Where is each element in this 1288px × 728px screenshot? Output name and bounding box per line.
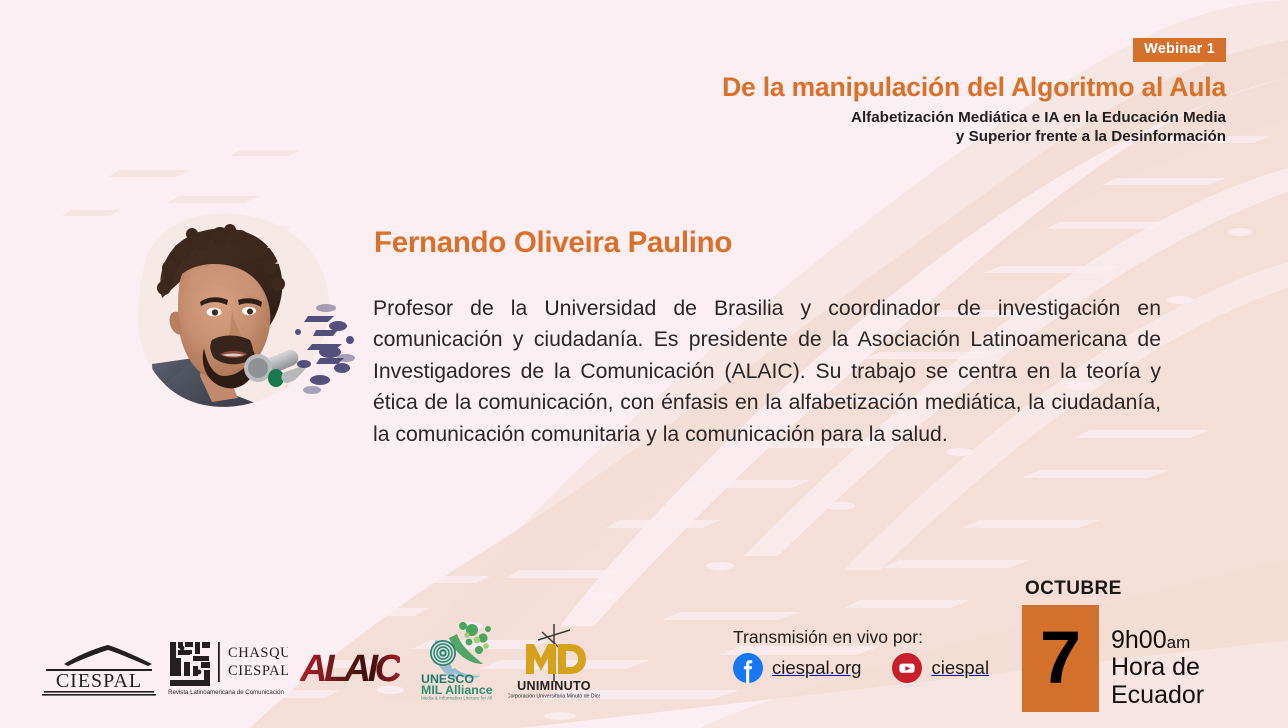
webinar-subtitle-line-2: y Superior frente a la Desinformación <box>526 127 1226 146</box>
event-timezone-line-1: Hora de <box>1111 653 1204 681</box>
logo-chasqui-subtitle: Revista Latinoamericana de Comunicación <box>168 689 284 696</box>
logo-alaic: ALAIC <box>300 648 400 688</box>
event-time-block: 9h00am Hora de Ecuador <box>1111 605 1204 709</box>
event-day: 7 <box>1040 628 1081 689</box>
transmission-label: Transmisión en vivo por: <box>733 627 989 648</box>
event-day-box: 7 <box>1022 605 1099 712</box>
logo-unesco-mil-alliance: UNESCO MIL Alliance Media & Information … <box>417 620 495 700</box>
event-month: OCTUBRE <box>1025 578 1232 600</box>
speaker-photo <box>108 208 358 423</box>
logo-uniminuto-text: UNIMINUTO <box>517 679 591 693</box>
sponsor-logos: CIESPAL CHASQUI <box>0 620 640 710</box>
event-time-suffix: am <box>1167 633 1191 652</box>
poster-canvas: Webinar 1 De la manipulación del Algorit… <box>0 0 1288 728</box>
event-time-value: 9h00 <box>1111 626 1167 654</box>
speaker-name: Fernando Oliveira Paulino <box>374 226 732 260</box>
facebook-handle: ciespal.org <box>772 657 861 679</box>
logo-ciespal: CIESPAL <box>42 642 156 696</box>
logo-ciespal-text: CIESPAL <box>56 670 142 692</box>
speaker-bio: Profesor de la Universidad de Brasilia y… <box>373 293 1161 450</box>
logo-uniminuto: UNIMINUTO Corporación Universitaria Minu… <box>508 620 600 700</box>
event-timezone-line-2: Ecuador <box>1111 681 1204 709</box>
logo-unesco-subtitle: Media & Information Literacy for All <box>421 695 492 700</box>
youtube-handle: ciespal <box>931 657 989 679</box>
logo-chasqui-line-2: CIESPAL <box>228 663 288 679</box>
logo-alaic-text: ALAIC <box>300 648 400 688</box>
event-time: 9h00am <box>1111 627 1204 653</box>
social-link-youtube[interactable]: ciespal <box>892 653 989 683</box>
webinar-badge: Webinar 1 <box>1133 38 1226 62</box>
webinar-title: De la manipulación del Algoritmo al Aula <box>526 72 1226 103</box>
logo-uniminuto-subtitle: Corporación Universitaria Minuto de Dios <box>508 694 600 700</box>
social-link-facebook[interactable]: ciespal.org <box>733 653 861 683</box>
header-block: Webinar 1 De la manipulación del Algorit… <box>526 38 1226 146</box>
facebook-icon <box>733 653 763 683</box>
webinar-subtitle-line-1: Alfabetización Mediática e IA en la Educ… <box>526 108 1226 127</box>
youtube-icon <box>892 653 922 683</box>
logo-chasqui-ciespal: CHASQUI CIESPAL Revista Latinoamericana … <box>164 636 288 698</box>
logo-chasqui-line-1: CHASQUI <box>228 645 288 661</box>
webinar-subtitle: Alfabetización Mediática e IA en la Educ… <box>526 108 1226 147</box>
event-date-block: OCTUBRE 7 9h00am Hora de Ecuador <box>1022 578 1232 712</box>
transmission-block: Transmisión en vivo por: ciespal.org cie… <box>733 627 989 683</box>
